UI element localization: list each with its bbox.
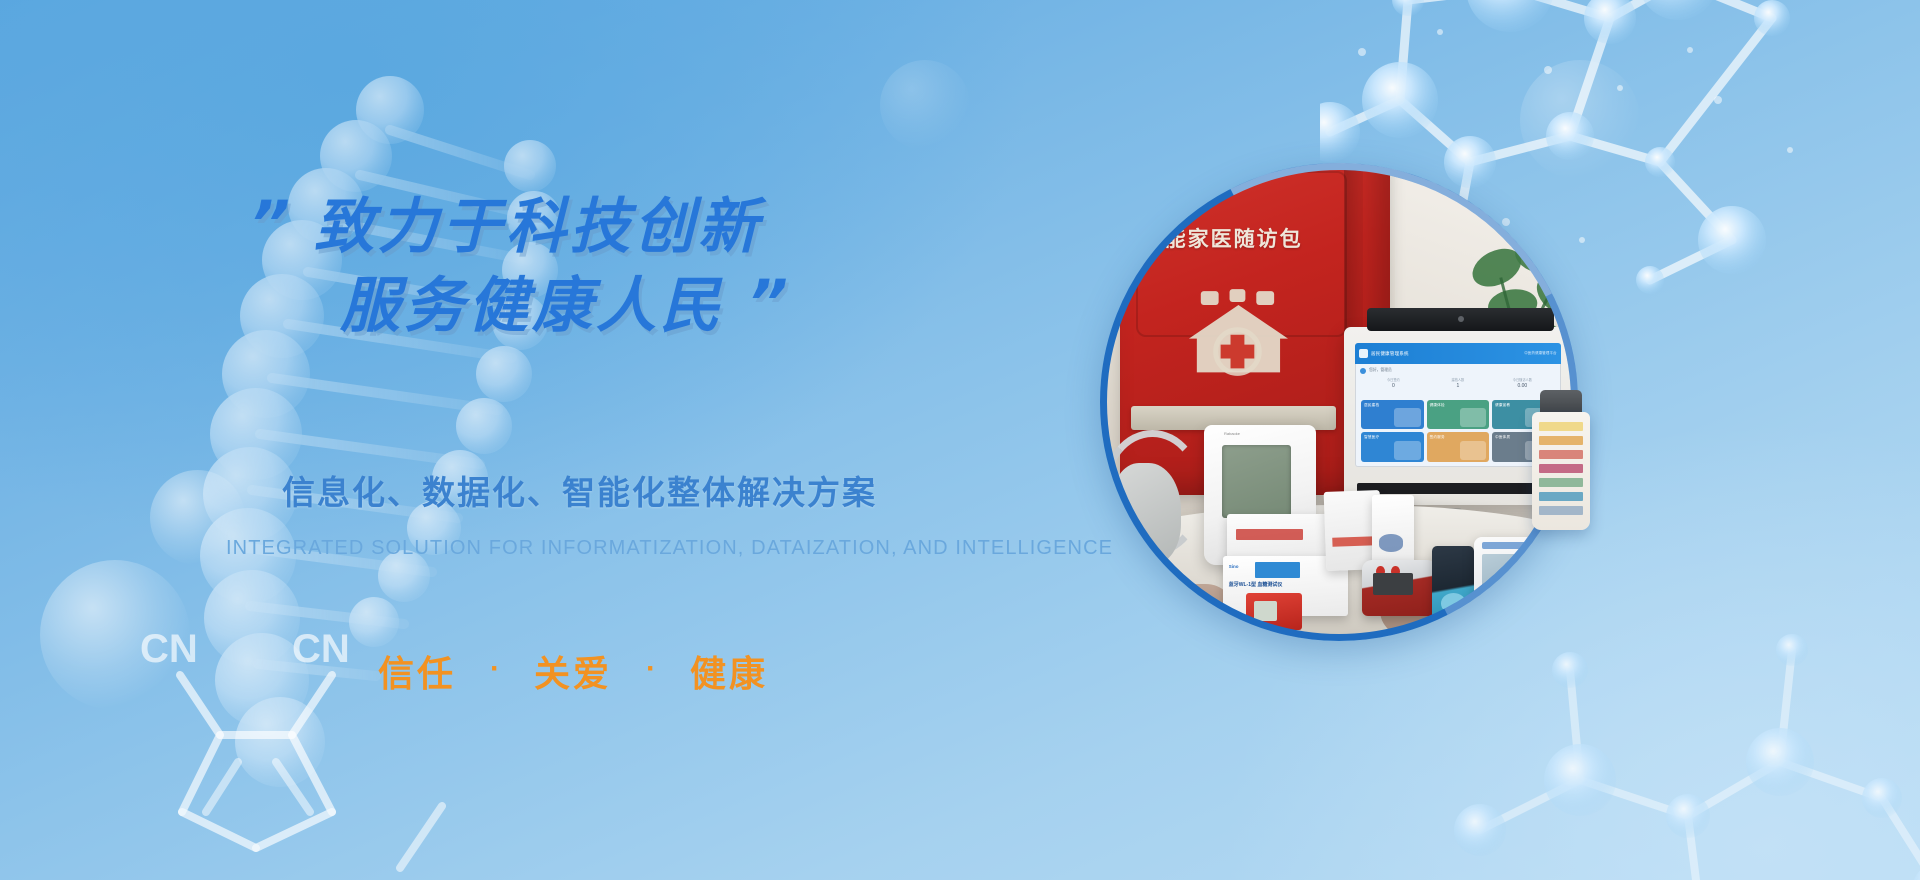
subtitle-english: INTEGRATED SOLUTION FOR INFORMATIZATION,… xyxy=(226,537,1113,560)
kiosk-tile[interactable]: 居民建档 xyxy=(1361,400,1423,430)
handheld-display xyxy=(1373,573,1413,595)
hero-text-block: ” 致力于科技创新 服务健康人民 ” 信息化、数据化、智能化整体解决方案 INT… xyxy=(0,0,1040,880)
glucose-box-brand: Sino xyxy=(1229,564,1239,569)
bottle-color-strip xyxy=(1539,450,1583,459)
urine-test-strip-bottle xyxy=(1532,390,1590,530)
bp-cuff xyxy=(1111,463,1181,566)
handheld-analyzer xyxy=(1362,560,1437,616)
kiosk-app-icon xyxy=(1359,349,1368,358)
photo-clip: 智能家医随访包 xyxy=(1106,169,1572,635)
kiosk-stat-label: 今日随访人数 xyxy=(1490,377,1555,382)
glucose-box-model: 蓝牙WL-1型 血糖测试仪 xyxy=(1229,581,1283,588)
headline: ” 致力于科技创新 服务健康人民 ” xyxy=(250,196,1010,338)
kiosk-user-greeting: 您好，管理员 xyxy=(1369,368,1392,373)
kiosk-tile-label: 智慧医疗 xyxy=(1364,435,1420,440)
bottle-color-strip xyxy=(1539,422,1583,431)
glucometer-device xyxy=(1246,593,1302,630)
kiosk-stat-label: 今日签约 xyxy=(1361,377,1426,382)
subtitle-chinese: 信息化、数据化、智能化整体解决方案 xyxy=(282,466,877,514)
tagline-word-health: 健康 xyxy=(690,645,768,697)
kiosk-stat-value: 1 xyxy=(1426,383,1491,389)
headline-line-1: 致力于科技创新 xyxy=(314,196,762,259)
kiosk-stat: 建档人数 1 xyxy=(1426,377,1491,397)
tagline-separator-dot: · xyxy=(490,654,500,684)
bottle-color-strip xyxy=(1539,436,1583,445)
bottle-color-strip xyxy=(1539,478,1583,487)
kiosk-tile[interactable]: 智慧医疗 xyxy=(1361,432,1423,462)
family-doctor-logo-icon xyxy=(1179,281,1298,384)
bottle-color-strip xyxy=(1539,506,1583,515)
quote-close-icon: ” xyxy=(748,272,786,334)
tagline-separator-dot: · xyxy=(646,654,656,684)
bottle-color-strip xyxy=(1539,464,1583,473)
bottle-color-strip xyxy=(1539,492,1583,501)
kiosk-tile[interactable]: 健康体检 xyxy=(1427,400,1490,430)
kiosk-base-bar xyxy=(1357,483,1558,494)
glucose-box-band xyxy=(1255,562,1300,578)
kiosk-stat: 今日签约 0 xyxy=(1361,377,1426,397)
bp-monitor-display xyxy=(1222,445,1291,518)
kiosk-stat-label: 建档人数 xyxy=(1426,377,1491,382)
ecg-display xyxy=(1482,554,1531,593)
photo-scene: 智能家医随访包 xyxy=(1106,169,1572,635)
kiosk-user-row: 您好，管理员 xyxy=(1355,364,1560,376)
hero-banner: CN CN ” 致力于科技创新 服务健康人民 ” 信息化、数据化、智能化整体解决… xyxy=(0,0,1920,880)
kiosk-stat-value: 0.00 xyxy=(1490,383,1555,389)
kiosk-tile-label: 健康体检 xyxy=(1430,403,1487,408)
ecg-header-strip xyxy=(1482,542,1533,549)
bokeh-circle xyxy=(1520,60,1640,180)
kiosk-tile-label: 签约服务 xyxy=(1430,435,1487,440)
bottle-body xyxy=(1532,412,1590,530)
kiosk-header-right: 中医药健康管理平台 xyxy=(1524,351,1556,356)
headline-line-2: 服务健康人民 xyxy=(340,275,724,338)
tagline: 信任 · 关爱 · 健康 xyxy=(378,645,768,697)
tagline-word-care: 关爱 xyxy=(534,645,612,697)
kiosk-avatar xyxy=(1360,368,1366,374)
kiosk-app-header: 居民健康管理系统 中医药健康管理平台 xyxy=(1355,343,1560,364)
hero-photo: 智能家医随访包 xyxy=(1100,163,1578,641)
kiosk-tile-label: 居民建档 xyxy=(1364,403,1420,408)
kiosk-stat-value: 0 xyxy=(1361,383,1426,389)
quote-open-icon: ” xyxy=(250,193,288,255)
ecg-monitor-device xyxy=(1474,537,1572,612)
kiosk-tile[interactable]: 签约服务 xyxy=(1427,432,1490,462)
pulse-oximeter-device xyxy=(1432,546,1474,621)
kiosk-app-title: 居民健康管理系统 xyxy=(1371,351,1409,357)
bp-monitor-brand: Rabaoke xyxy=(1224,431,1240,436)
ecg-keypad xyxy=(1552,555,1566,597)
kiosk-screen: 居民健康管理系统 中医药健康管理平台 您好，管理员 今日签约 0 xyxy=(1355,343,1560,467)
backpack-label: 智能家医随访包 xyxy=(1142,223,1358,253)
kiosk-stats-row: 今日签约 0 建档人数 1 今日随访人数 0.00 xyxy=(1355,377,1560,397)
kiosk-tile-grid: 居民建档 健康体检 健康宣教 智慧医疗 签约服务 中医体质 xyxy=(1355,397,1560,468)
tagline-word-trust: 信任 xyxy=(378,645,456,697)
reagent-box xyxy=(1372,495,1414,565)
kiosk-camera-bar xyxy=(1367,308,1554,331)
